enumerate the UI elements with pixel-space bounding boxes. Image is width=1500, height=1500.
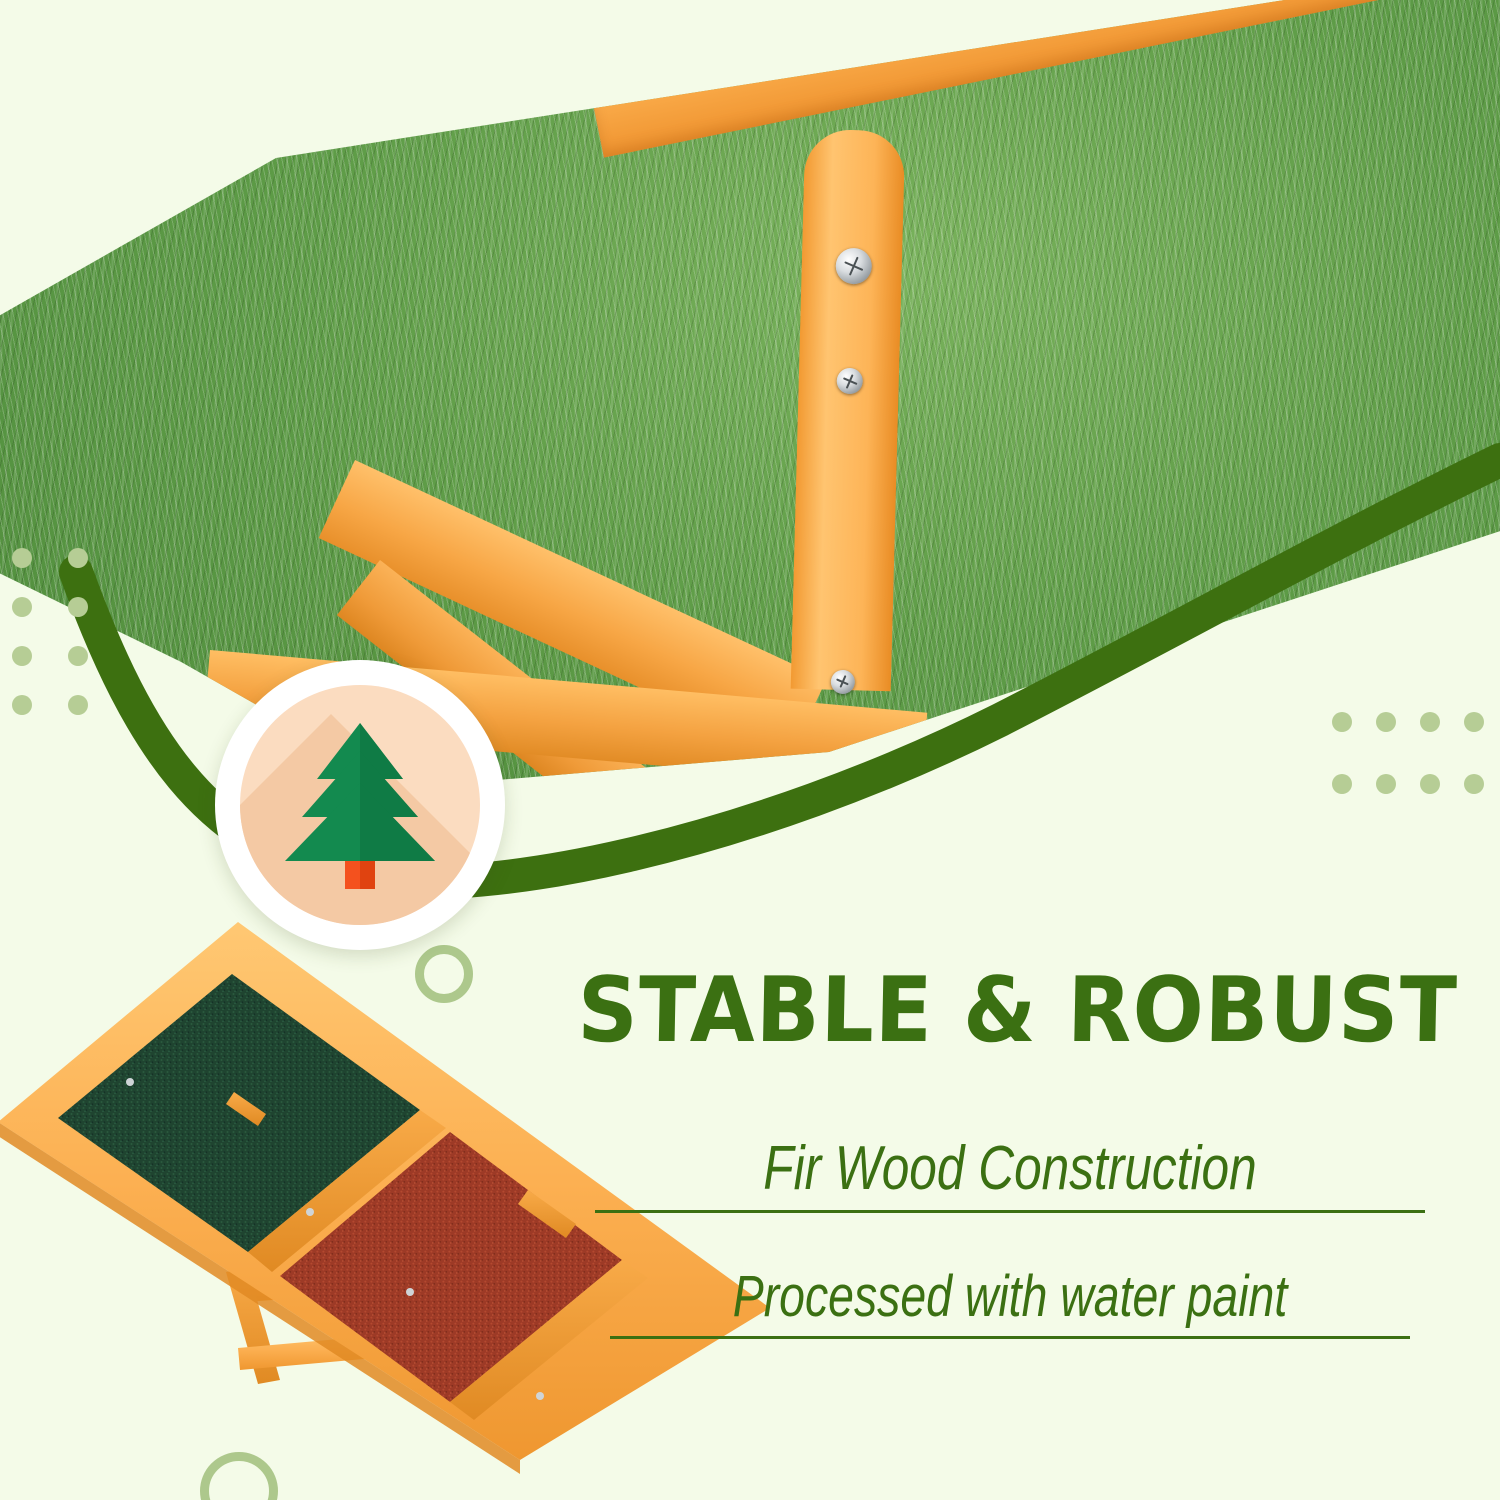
decor-dot xyxy=(68,548,88,568)
decor-dot xyxy=(1464,712,1484,732)
dot-grid-left xyxy=(12,548,124,744)
feature-line-2: Processed with water paint xyxy=(638,1263,1382,1330)
screw-icon xyxy=(121,122,159,160)
decor-dot xyxy=(1332,712,1352,732)
decor-dot xyxy=(1464,774,1484,794)
screw-icon xyxy=(364,40,399,75)
decor-dot xyxy=(1332,774,1352,794)
feature-line-1-underline xyxy=(595,1210,1425,1213)
decor-dot xyxy=(68,597,88,617)
decor-dot xyxy=(12,548,32,568)
decor-dot xyxy=(12,597,32,617)
page-title: STABLE & ROBUST xyxy=(577,965,1444,1057)
feature-line-2-underline xyxy=(610,1336,1410,1339)
decor-dot xyxy=(1420,712,1440,732)
decor-dot xyxy=(68,646,88,666)
decor-dot xyxy=(1376,774,1396,794)
screw-icon xyxy=(835,248,872,285)
decor-dot xyxy=(12,695,32,715)
copy-block: STABLE & ROBUST Fir Wood Construction Pr… xyxy=(545,965,1475,1339)
hero-photo xyxy=(0,0,1500,860)
decor-dot xyxy=(1376,712,1396,732)
screw-icon xyxy=(836,368,863,395)
decor-dot xyxy=(68,695,88,715)
feature-line-1: Fir Wood Construction xyxy=(638,1133,1382,1204)
wood-support-post xyxy=(791,129,906,691)
decor-dot xyxy=(12,646,32,666)
decor-dot xyxy=(1420,774,1440,794)
feature-panel: STABLE & ROBUST Fir Wood Construction Pr… xyxy=(0,0,1500,1500)
dot-grid-right xyxy=(1332,712,1500,836)
